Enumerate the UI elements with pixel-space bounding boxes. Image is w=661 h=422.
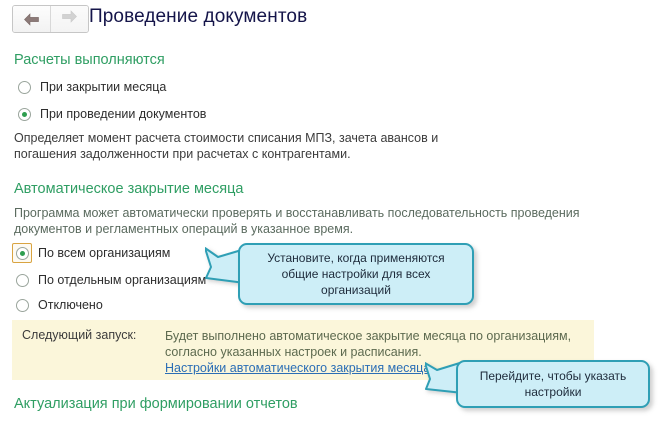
radio-label: Отключено [38,298,103,312]
radio-at-document-posting[interactable]: При проведении документов [14,104,206,124]
navigation-buttons [12,5,89,33]
radio-indicator [12,270,32,290]
forward-button [50,6,88,32]
radio-indicator [14,104,34,124]
auto-close-description: Программа может автоматически проверять … [14,205,644,237]
callout-settings-text: Перейдите, чтобы указать настройки [466,368,640,400]
callout-organizations: Установите, когда применяются общие наст… [238,243,474,305]
page-title: Проведение документов [89,6,307,28]
radio-all-organizations[interactable]: По всем организациям [12,243,170,263]
window-header: Проведение документов [0,0,661,40]
section-heading-auto-close: Автоматическое закрытие месяца [14,181,243,197]
radio-label: При закрытии месяца [40,80,166,94]
radio-indicator [12,243,32,263]
next-run-label: Следующий запуск: [22,328,136,342]
calculations-description: Определяет момент расчета стоимости спис… [14,130,444,162]
radio-separate-organizations[interactable]: По отдельным организациям [12,270,206,290]
radio-label: При проведении документов [40,107,206,121]
radio-label: По всем организациям [38,246,170,260]
radio-at-month-close[interactable]: При закрытии месяца [14,77,166,97]
auto-close-settings-link[interactable]: Настройки автоматического закрытия месяц… [165,360,434,376]
back-button[interactable] [13,6,50,32]
arrow-left-icon [23,13,40,26]
radio-disabled[interactable]: Отключено [12,295,103,315]
section-heading-reports: Актуализация при формировании отчетов [14,396,298,412]
radio-indicator [12,295,32,315]
callout-settings: Перейдите, чтобы указать настройки [456,360,650,408]
next-run-line-2: согласно указанных настроек и расписания… [165,345,422,359]
section-heading-calculations: Расчеты выполняются [14,52,165,68]
radio-label: По отдельным организациям [38,273,206,287]
arrow-right-icon [61,10,78,28]
radio-indicator [14,77,34,97]
next-run-line-1: Будет выполнено автоматическое закрытие … [165,329,571,343]
callout-organizations-text: Установите, когда применяются общие наст… [248,250,464,298]
